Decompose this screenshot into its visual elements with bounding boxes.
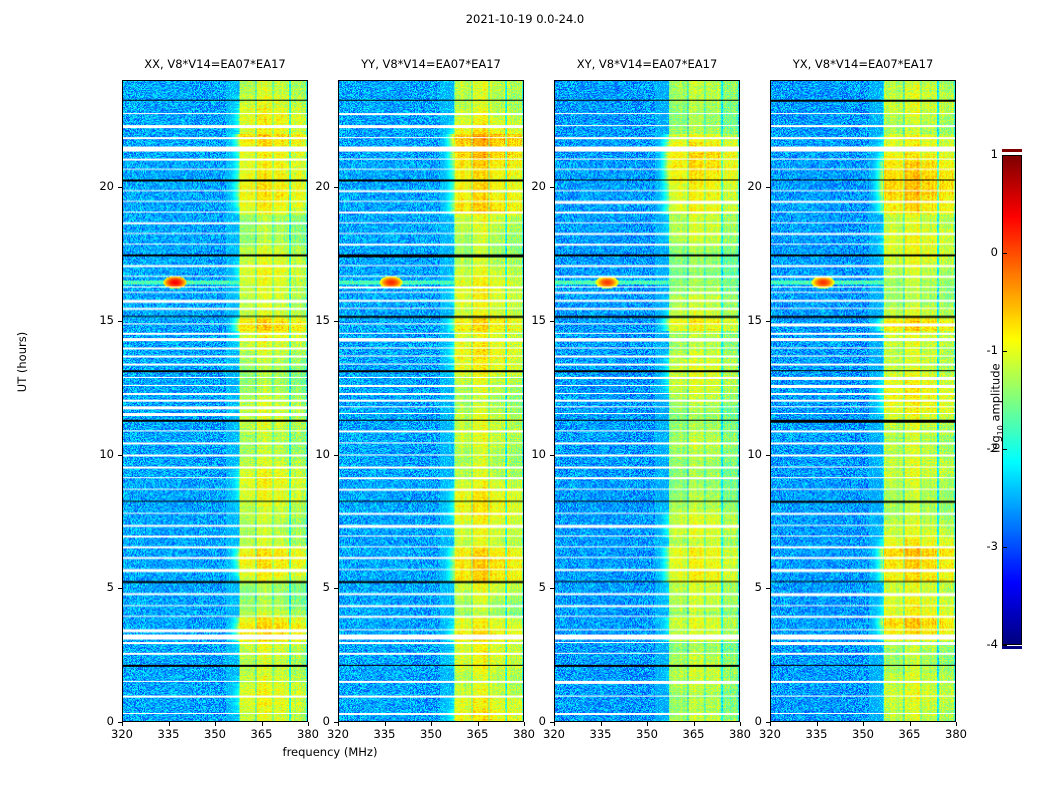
x-tick (956, 722, 957, 726)
x-tick (554, 722, 555, 726)
x-tick-label: 350 (843, 727, 883, 741)
y-tick (550, 455, 554, 456)
x-tick (262, 722, 263, 726)
x-tick (478, 722, 479, 726)
y-tick (766, 588, 770, 589)
x-tick-label: 335 (797, 727, 837, 741)
y-tick-label: 20 (722, 179, 762, 193)
y-tick (334, 588, 338, 589)
x-tick (338, 722, 339, 726)
y-tick (550, 187, 554, 188)
colorbar-tick (1002, 645, 1007, 646)
colorbar-tick-label: -1 (964, 343, 998, 357)
x-tick-label: 380 (936, 727, 976, 741)
x-tick (817, 722, 818, 726)
x-tick-label: 350 (195, 727, 235, 741)
waterfall-panel-yy[interactable] (338, 80, 524, 722)
colorbar-tick (1002, 253, 1007, 254)
y-tick (334, 722, 338, 723)
y-tick-label: 15 (290, 313, 330, 327)
colorbar-label: log10 amplitude (989, 363, 1005, 453)
x-tick-label: 365 (458, 727, 498, 741)
x-tick-label: 365 (890, 727, 930, 741)
colorbar-label-prefix: log (989, 435, 1003, 453)
y-tick-label: 20 (506, 179, 546, 193)
x-tick-label: 350 (627, 727, 667, 741)
y-tick-label: 0 (722, 714, 762, 728)
y-tick-label: 15 (506, 313, 546, 327)
y-tick-label: 5 (290, 580, 330, 594)
y-tick-label: 0 (290, 714, 330, 728)
x-tick (122, 722, 123, 726)
y-tick-label: 10 (290, 447, 330, 461)
x-tick-label: 350 (411, 727, 451, 741)
x-tick (601, 722, 602, 726)
y-tick-label: 20 (290, 179, 330, 193)
y-tick-label: 5 (506, 580, 546, 594)
x-tick-label: 320 (750, 727, 790, 741)
y-tick-label: 10 (74, 447, 114, 461)
y-tick-label: 15 (722, 313, 762, 327)
y-tick (766, 321, 770, 322)
y-tick-label: 5 (722, 580, 762, 594)
y-tick (118, 455, 122, 456)
colorbar-tick-label: 0 (964, 245, 998, 259)
colorbar-tick-label: -4 (964, 637, 998, 651)
x-tick-label: 365 (674, 727, 714, 741)
y-tick (118, 722, 122, 723)
y-tick (118, 321, 122, 322)
x-tick-label: 320 (318, 727, 358, 741)
y-tick-label: 15 (74, 313, 114, 327)
colorbar-tick (1002, 351, 1007, 352)
y-tick (766, 722, 770, 723)
figure-suptitle: 2021-10-19 0.0-24.0 (0, 12, 1050, 26)
y-axis-label: UT (hours) (15, 332, 29, 392)
x-axis-label: frequency (MHz) (0, 745, 660, 759)
colorbar-extend-max (1002, 149, 1022, 152)
x-tick (910, 722, 911, 726)
x-tick (863, 722, 864, 726)
panel-title-yy: YY, V8*V14=EA07*EA17 (338, 57, 524, 71)
y-tick (766, 187, 770, 188)
y-tick (118, 187, 122, 188)
x-tick-label: 335 (365, 727, 405, 741)
y-tick (550, 588, 554, 589)
colorbar-tick-label: 1 (964, 147, 998, 161)
x-tick (169, 722, 170, 726)
y-tick (766, 455, 770, 456)
x-tick (431, 722, 432, 726)
colorbar-label-suffix: amplitude (989, 363, 1003, 425)
y-tick-label: 0 (74, 714, 114, 728)
y-tick-label: 20 (74, 179, 114, 193)
y-tick (118, 588, 122, 589)
colorbar-label-sub: 10 (996, 425, 1005, 435)
colorbar-tick-label: -3 (964, 539, 998, 553)
y-tick (550, 321, 554, 322)
x-tick-label: 320 (534, 727, 574, 741)
colorbar[interactable] (1002, 155, 1022, 645)
y-tick (550, 722, 554, 723)
panel-title-xx: XX, V8*V14=EA07*EA17 (122, 57, 308, 71)
x-tick (694, 722, 695, 726)
y-tick-label: 5 (74, 580, 114, 594)
x-tick (647, 722, 648, 726)
x-tick-label: 335 (581, 727, 621, 741)
colorbar-extend-min (1002, 646, 1022, 649)
waterfall-panel-xy[interactable] (554, 80, 740, 722)
panel-title-xy: XY, V8*V14=EA07*EA17 (554, 57, 740, 71)
colorbar-tick (1002, 155, 1007, 156)
panel-title-yx: YX, V8*V14=EA07*EA17 (770, 57, 956, 71)
y-tick-label: 10 (722, 447, 762, 461)
y-tick (334, 321, 338, 322)
x-tick (770, 722, 771, 726)
x-tick-label: 365 (242, 727, 282, 741)
y-tick-label: 10 (506, 447, 546, 461)
x-tick-label: 320 (102, 727, 142, 741)
waterfall-panel-yx[interactable] (770, 80, 956, 722)
x-tick (385, 722, 386, 726)
y-tick (334, 455, 338, 456)
figure-canvas: 2021-10-19 0.0-24.0 XX, V8*V14=EA07*EA17… (0, 0, 1050, 800)
x-tick-label: 335 (149, 727, 189, 741)
y-tick (334, 187, 338, 188)
y-tick-label: 0 (506, 714, 546, 728)
x-tick (215, 722, 216, 726)
colorbar-tick (1002, 547, 1007, 548)
waterfall-panel-xx[interactable] (122, 80, 308, 722)
